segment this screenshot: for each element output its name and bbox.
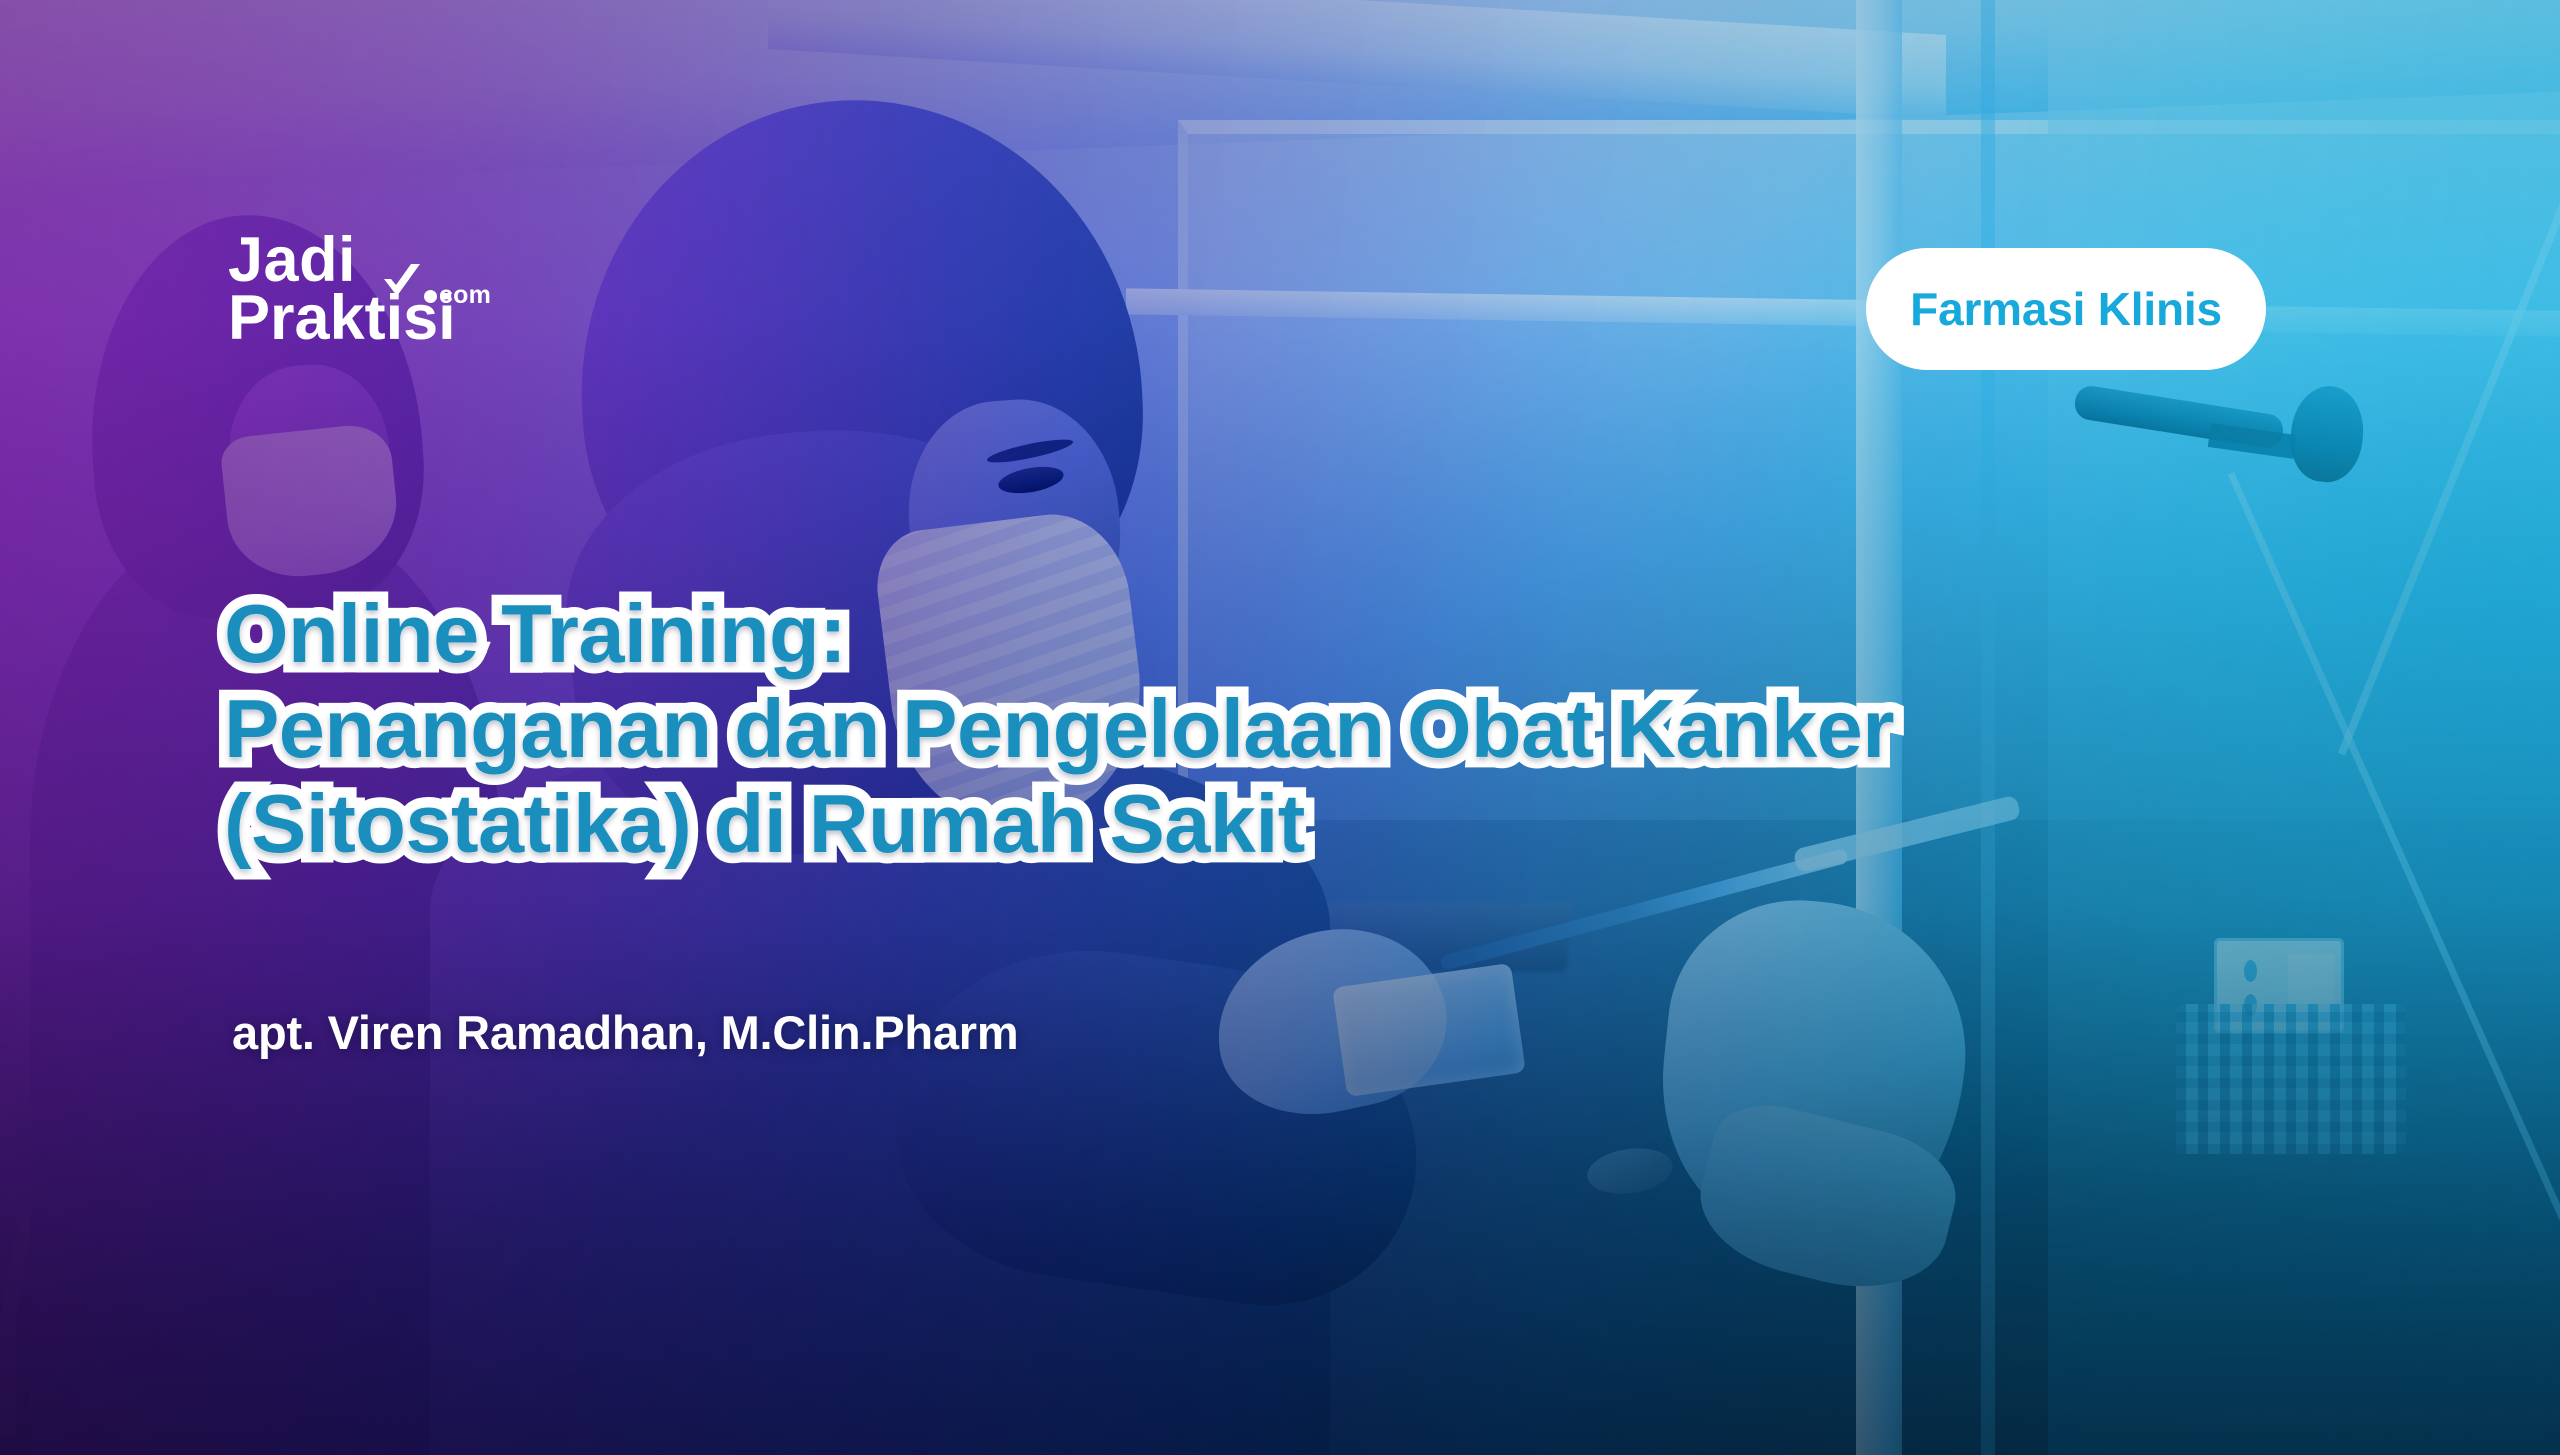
logo-line-praktisi-row: Praktisi com — [228, 290, 456, 348]
title-line-2: Penanganan dan Pengelolaan Obat Kanker — [224, 687, 2284, 770]
page-title: Online Training: Penanganan dan Pengelol… — [224, 592, 2284, 877]
category-badge[interactable]: Farmasi Klinis — [1866, 248, 2266, 370]
title-line-1: Online Training: — [224, 592, 2284, 675]
speaker-name: apt. Viren Ramadhan, M.Clin.Pharm — [232, 1005, 1018, 1060]
category-badge-label: Farmasi Klinis — [1910, 282, 2222, 336]
banner-content: Jadi Praktisi com Farmasi Klinis Online … — [0, 0, 2560, 1455]
logo-domain-text: com — [439, 281, 491, 309]
webinar-promo-banner: Jadi Praktisi com Farmasi Klinis Online … — [0, 0, 2560, 1455]
logo-domain-suffix: com — [424, 284, 491, 307]
logo-line-praktisi: Praktisi — [228, 283, 456, 353]
title-line-3: (Sitostatika) di Rumah Sakit — [224, 782, 2284, 865]
logo-line-jadi: Jadi — [228, 232, 456, 290]
brand-logo[interactable]: Jadi Praktisi com — [228, 232, 456, 348]
logo-dot-icon — [424, 290, 437, 303]
